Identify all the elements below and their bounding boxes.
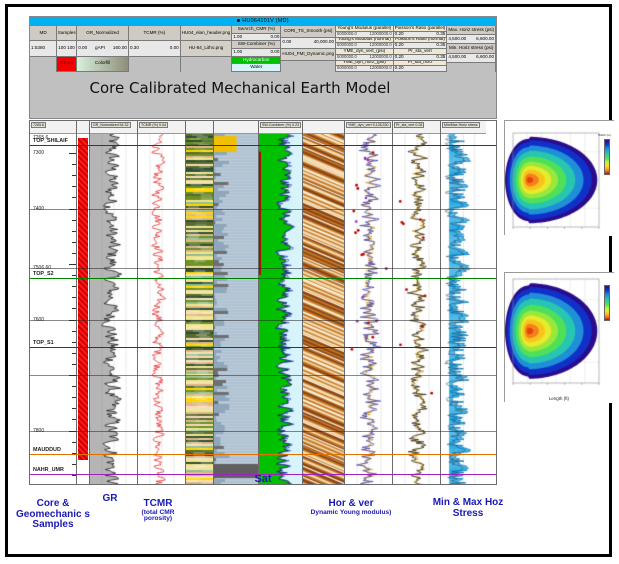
header-col-cori-ts-smooth: CORI_TS_Smooth (psi)0.0040,000.00HU04_FM…	[281, 26, 336, 72]
value-right: 0.35	[436, 55, 445, 60]
label-core-geomech: Core & Geomechanic s Samples	[14, 499, 92, 531]
value-right: 40,000.00	[314, 40, 334, 45]
depth-tick	[72, 242, 76, 243]
header-col-youngs-modulus: Young's Modulus (parallel)5000000.012000…	[336, 26, 394, 72]
screenshot-frame: HU064101V (MD) MD1:5380Samples100 100XX …	[5, 4, 612, 557]
value-left: 1.00	[233, 35, 242, 40]
header-cell-core-samples-0: Samples	[57, 26, 76, 41]
depth-tick	[72, 408, 76, 409]
value-right: 6,600.00	[476, 55, 494, 60]
header-col-swarch-cmr: SwArch_CMR (%)1.000.00SW-Combiner (%)1.0…	[232, 26, 281, 72]
track-poissons-ratio-body	[393, 134, 440, 484]
value-left: 5000000.0	[337, 66, 357, 70]
header-cell-core-samples-1: 100 100	[57, 41, 76, 56]
depth-tick	[72, 253, 76, 254]
header-col-elan-header: HU04_elan_header.pngHU-84_Litho.png	[181, 26, 233, 72]
contour-lower-xlabel: Length (ft)	[505, 396, 613, 401]
log-header-panel: HU064101V (MD) MD1:5380Samples100 100XX …	[29, 16, 497, 119]
track-lithology-body	[186, 134, 213, 484]
track-horizontal-stress-body	[441, 134, 486, 484]
depth-label: 7300	[33, 150, 44, 156]
header-cell-horiz-stress-2: Min. Horiz stress (psi)	[447, 44, 495, 53]
header-cell-horiz-stress-3: 4,500.006,600.00	[447, 54, 495, 63]
label-young-text: Hor & ver	[328, 498, 373, 509]
value-left: 0.20	[395, 66, 404, 71]
depth-tick	[72, 275, 76, 276]
label-core-geomech-text: Core & Geomechanic s Samples	[16, 498, 90, 530]
log-display[interactable]: 7265.6 730074007506.60760078007265.6TOP_…	[29, 120, 497, 485]
contour-plot-upper[interactable]: Width Contours Width (in)	[504, 120, 614, 235]
value-left: 4,500.00	[448, 37, 466, 42]
formation-marker-NAHR_UMR: NAHR_UMR	[33, 467, 64, 473]
header-cell-poissons-ratio-7: 0.20	[394, 66, 447, 72]
depth-gridline	[30, 375, 496, 376]
marker-line-TOP_S2	[30, 278, 496, 279]
sw-combiner-label: SW-Combiner (%) 0.23	[260, 122, 301, 128]
label-stress: Min & Max Hoz Stress	[427, 498, 509, 519]
formation-marker-TOP_S1: TOP_S1	[33, 340, 54, 346]
contour-upper-colorbar	[604, 139, 610, 175]
header-cell-gr-normalized-2: Colorfill	[77, 57, 128, 72]
depth-top-value: 7265.6	[31, 122, 46, 128]
formation-marker-MAUDDUD: MAUDDUD	[33, 447, 61, 453]
track-gr-body	[90, 134, 137, 484]
header-cell-swarch-cmr-4: Hydrocarbon	[232, 57, 280, 65]
label-tcmr-text: TCMR	[144, 498, 173, 509]
marker-line-MAUDDUD	[30, 454, 496, 455]
header-cell-core-samples-2: XX XX	[57, 57, 76, 72]
contour-lower-colorbar	[604, 285, 610, 321]
header-cell-swarch-cmr-5: Water	[232, 64, 280, 72]
depth-tick	[72, 464, 76, 465]
value-left: 1:5380	[31, 46, 45, 51]
depth-gridline	[30, 268, 496, 269]
header-cell-swarch-cmr-3: 1.000.00	[232, 49, 280, 57]
pr-curve-label: Pr_sta_vert 0.28	[394, 122, 424, 128]
track-depth-header: 7265.6	[30, 121, 76, 134]
header-cell-elan-header-1: HU-84_Litho.png	[181, 41, 232, 56]
label-gr-text: GR	[103, 493, 118, 504]
depth-gridline	[30, 320, 496, 321]
ym-curve-label: YME_dyn_vert 9,128,330	[346, 122, 391, 128]
header-cell-swarch-cmr-1: 1.000.00	[232, 34, 280, 42]
header-cell-gr-normalized-1: 0.00gAPI160.00	[77, 41, 128, 56]
core-sample-strip	[78, 138, 88, 460]
value-right: 6,600.00	[476, 37, 494, 42]
formation-marker-TOP_SHILAIF: TOP_SHILAIF	[33, 138, 68, 144]
header-cell-tcmr-1: 0.300.00	[129, 41, 180, 56]
label-sat-text: Sat	[254, 473, 271, 485]
header-cell-tcmr-0: TCMR (%)	[129, 26, 180, 41]
track-poissons-ratio-header: Pr_sta_vert 0.28	[393, 121, 440, 134]
value-right: 0.35	[436, 32, 445, 37]
header-cell-gr-normalized-0: GR_Normalized	[77, 26, 128, 41]
track-horizontal-stress-header: Min/Max Horiz stress	[441, 121, 486, 134]
depth-tick	[72, 164, 76, 165]
track-fmi-body	[303, 134, 344, 484]
depth-tick	[72, 186, 76, 187]
value-right: 0.00	[170, 46, 179, 51]
depth-tick	[72, 286, 76, 287]
header-cell-horiz-stress-1: 4,500.006,600.00	[447, 35, 495, 44]
header-col-md: MD1:5380	[30, 26, 57, 72]
track-saturation-body	[259, 134, 302, 484]
depth-tick	[72, 364, 76, 365]
gr-curve-label: GR_Normalized 54.32	[91, 122, 131, 128]
depth-tick	[72, 308, 76, 309]
value-left: 0.20	[395, 32, 404, 37]
value-right: 160.00	[113, 46, 127, 51]
header-cell-cori-ts-smooth-1: 0.0040,000.00	[281, 38, 335, 50]
track-saturation-header: SW-Combiner (%) 0.23	[259, 121, 302, 134]
marker-line-TOP_S1	[30, 347, 496, 348]
depth-tick	[72, 442, 76, 443]
header-cell-tcmr-2	[129, 57, 180, 72]
value-left: 0.00	[282, 40, 291, 45]
depth-tick	[72, 197, 76, 198]
window-titlebar[interactable]: HU064101V (MD)	[30, 17, 496, 26]
track-core-body	[77, 134, 89, 484]
value-left: 0.20	[395, 43, 404, 48]
value-unit: gAPI	[95, 46, 105, 51]
track-gr-header: GR_Normalized 54.32	[90, 121, 137, 134]
depth-tick	[72, 331, 76, 332]
tcmr-curve-label: TCMR (%) 0.04	[139, 122, 168, 128]
value-left: 1.00	[233, 50, 242, 55]
header-col-horiz-stress: Max. Horiz stress (psi)4,500.006,600.00M…	[447, 26, 496, 72]
value-left: 4,500.00	[448, 55, 466, 60]
header-cell-swarch-cmr-2: SW-Combiner (%)	[232, 41, 280, 49]
value-right: 0.35	[436, 43, 445, 48]
value-left: 5000000.0	[337, 55, 357, 59]
well-marker-icon	[237, 19, 240, 22]
label-gr: GR	[90, 494, 130, 505]
track-lithology-header	[186, 121, 213, 134]
track-saturation-image-body	[214, 134, 258, 484]
label-stress-text: Min & Max Hoz Stress	[433, 497, 504, 519]
header-col-tcmr: TCMR (%)0.300.00	[129, 26, 181, 72]
label-young: Hor & ver Dynamic Young modulus)	[308, 499, 394, 516]
label-tcmr: TCMR (total CMR porosity)	[128, 499, 188, 523]
contour-plot-lower[interactable]: Length (ft)	[504, 272, 614, 402]
header-cell-elan-header-0: HU04_elan_header.png	[181, 26, 232, 41]
label-sat: Sat	[247, 474, 279, 486]
header-cell-md-2	[30, 57, 56, 72]
marker-line-TOP_SHILAIF	[30, 145, 496, 146]
window-title: HU064101V (MD)	[242, 18, 289, 24]
depth-tick	[72, 353, 76, 354]
header-cell-youngs-modulus-7: 5000000.012000000.0	[336, 66, 393, 72]
depth-tick	[69, 153, 76, 154]
track-youngs-modulus-header: YME_dyn_vert 9,128,330	[345, 121, 392, 134]
depth-tick	[69, 264, 76, 265]
depth-gridline	[30, 209, 496, 210]
formation-marker-TOP_S2: TOP_S2	[33, 271, 54, 277]
value-right: 12000000.0	[370, 32, 392, 36]
track-tcmr-header: TCMR (%) 0.04	[138, 121, 185, 134]
value-left: 0.00	[78, 46, 87, 51]
header-cell-md-1: 1:5380	[30, 41, 56, 56]
depth-tick	[72, 297, 76, 298]
depth-tick	[72, 175, 76, 176]
depth-tick	[72, 397, 76, 398]
contour-upper-colorbar-title: Width (in)	[598, 133, 611, 137]
track-depth-body: 730074007506.60760078007265.6TOP_SHILAIF…	[30, 134, 76, 484]
value-right: 12000000.0	[370, 55, 392, 59]
value-left: 0.30	[130, 46, 139, 51]
track-youngs-modulus-body	[345, 134, 392, 484]
track-saturation-image-header	[214, 121, 258, 134]
header-col-poissons-ratio: Poisson's Ratio (parallel)0.200.35Poisso…	[394, 26, 448, 72]
track-core-header	[77, 121, 89, 134]
value-left: 0.20	[395, 55, 404, 60]
depth-tick	[72, 342, 76, 343]
header-col-gr-normalized: GR_Normalized0.00gAPI160.00Colorfill	[77, 26, 129, 72]
value-right: 0.00	[270, 35, 279, 40]
value-right: 0.00	[270, 50, 279, 55]
header-cell-cori-ts-smooth-3	[281, 61, 335, 73]
label-tcmr-sub: (total CMR porosity)	[128, 510, 188, 524]
depth-tick	[72, 231, 76, 232]
track-tcmr-body	[138, 134, 185, 484]
depth-tick	[72, 220, 76, 221]
header-cell-horiz-stress-0: Max. Horiz stress (psi)	[447, 26, 495, 35]
value-right: 12000000.0	[370, 66, 392, 70]
header-cell-cori-ts-smooth-0: CORI_TS_Smooth (psi)	[281, 26, 335, 38]
header-cell-md-0: MD	[30, 26, 56, 41]
header-cell-cori-ts-smooth-2: HU04_FMI_Dynamic.png	[281, 49, 335, 61]
header-cell-elan-header-2	[181, 57, 232, 72]
value-left: 5000000.0	[337, 32, 357, 36]
header-columns: MD1:5380Samples100 100XX XXGR_Normalized…	[30, 26, 496, 72]
header-cell-horiz-stress-4	[447, 63, 495, 72]
header-col-core-samples: Samples100 100XX XX	[57, 26, 77, 72]
marker-line-NAHR_UMR	[30, 474, 496, 475]
value-right: 12000000.0	[370, 43, 392, 47]
label-young-sub: Dynamic Young modulus)	[308, 510, 394, 517]
track-fmi-header	[303, 121, 344, 134]
app-canvas: HU064101V (MD) MD1:5380Samples100 100XX …	[8, 7, 609, 554]
stress-curve-label: Min/Max Horiz stress	[442, 122, 480, 128]
header-cell-swarch-cmr-0: SwArch_CMR (%)	[232, 26, 280, 34]
depth-tick	[72, 386, 76, 387]
depth-tick	[72, 475, 76, 476]
depth-gridline	[30, 431, 496, 432]
value-left: 5000000.0	[337, 43, 357, 47]
fracture-geometry-pane: Width Contours Width (in) Length (ft)	[498, 112, 616, 487]
depth-tick	[72, 419, 76, 420]
value-left: 100 100	[58, 46, 75, 51]
page-title: Core Calibrated Mechanical Earth Model	[30, 79, 450, 97]
